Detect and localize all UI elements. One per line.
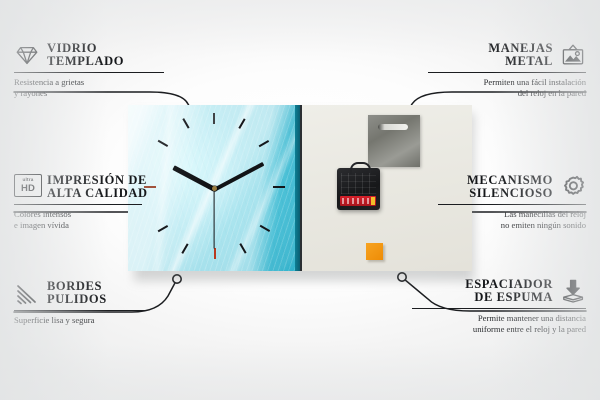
feature-title-line2: METAL — [505, 55, 553, 68]
feature-title-line1: VIDRIO — [47, 42, 97, 55]
metal-hanger-plate — [368, 115, 420, 167]
feature-title-line2: DE ESPUMA — [474, 291, 553, 304]
battery-label — [342, 198, 370, 204]
clock-face-front — [128, 105, 300, 271]
feature-subtitle-line2: del reloj en la pared — [428, 88, 586, 99]
feature-subtitle-line1: Colores intensos — [14, 209, 142, 220]
diamond-icon — [14, 42, 40, 68]
feature-title-line1: MECANISMO — [467, 174, 553, 187]
aa-battery — [340, 196, 376, 206]
feature-subtitle-line2: e imagen vívida — [14, 220, 142, 231]
feature-subtitle-line2: no emiten ningún sonido — [438, 220, 586, 231]
feature-subtitle-line1: Las manecillas del reloj — [438, 209, 586, 220]
feature-title-line2: ALTA CALIDAD — [47, 187, 148, 200]
second-hand — [213, 189, 214, 249]
movement-casing-detail — [341, 173, 376, 194]
hour-marker — [273, 186, 285, 188]
feature-callout-manejas-metal: MANEJAS METAL Permiten una fácil instala… — [428, 42, 586, 100]
feature-title-line2: TEMPLADO — [47, 55, 124, 68]
feature-rule — [14, 204, 142, 205]
product-image — [128, 105, 472, 277]
foam-spacer-arrow-icon — [560, 278, 586, 304]
feature-rule — [438, 204, 586, 205]
picture-hanger-icon — [560, 42, 586, 68]
feature-title-line1: BORDES — [47, 280, 102, 293]
feature-subtitle-line2: y rayones — [14, 88, 164, 99]
clock-hand-hub — [212, 186, 217, 191]
ultra-hd-icon: ultra HD — [14, 174, 40, 200]
feature-rule — [14, 310, 146, 311]
hour-marker — [213, 113, 215, 124]
feature-callout-espaciador-espuma: ESPACIADOR DE ESPUMA Permite mantener un… — [412, 278, 586, 336]
feature-subtitle-line1: Permite mantener una distancia — [412, 313, 586, 324]
feature-callout-impresion-alta-calidad: ultra HD IMPRESIÓN DE ALTA CALIDAD Color… — [14, 174, 142, 232]
feature-subtitle-line1: Permiten una fácil instalación — [428, 77, 586, 88]
hour-marker — [214, 248, 216, 259]
feature-rule — [412, 308, 586, 309]
feature-title-line1: ESPACIADOR — [465, 278, 553, 291]
quartz-movement-box — [337, 168, 380, 210]
feature-callout-vidrio-templado: VIDRIO TEMPLADO Resistencia a grietas y … — [14, 42, 164, 100]
feature-rule — [428, 72, 586, 73]
feature-title-line1: IMPRESIÓN DE — [47, 174, 147, 187]
feature-title-line2: PULIDOS — [47, 293, 107, 306]
feature-callout-mecanismo-silencioso: MECANISMO SILENCIOSO Las manecillas del … — [438, 174, 586, 232]
feature-subtitle-line1: Superficie lisa y segura — [14, 315, 146, 326]
feature-subtitle-line1: Resistencia a grietas — [14, 77, 164, 88]
feature-subtitle-line2: uniforme entre el reloj y la pared — [412, 324, 586, 335]
feature-title-line2: SILENCIOSO — [469, 187, 553, 200]
foam-spacer — [366, 243, 383, 260]
feature-rule — [14, 72, 164, 73]
diagonal-lines-icon — [14, 280, 40, 306]
feature-title-line1: MANEJAS — [488, 42, 553, 55]
feature-callout-bordes-pulidos: BORDES PULIDOS Superficie lisa y segura — [14, 280, 146, 326]
gear-icon — [560, 174, 586, 200]
ultra-hd-large-label: HD — [21, 184, 35, 194]
hanger-slot — [378, 124, 408, 130]
infographic-canvas: VIDRIO TEMPLADO Resistencia a grietas y … — [0, 0, 600, 400]
